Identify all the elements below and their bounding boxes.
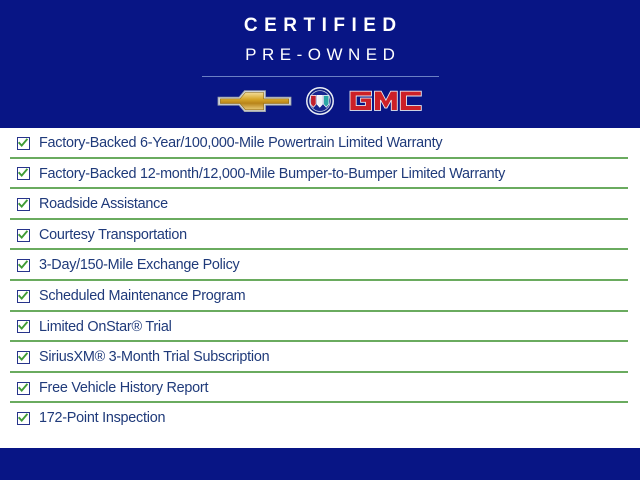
footer-bar xyxy=(0,448,640,480)
feature-row: 172-Point Inspection xyxy=(0,403,640,434)
feature-row: Courtesy Transportation xyxy=(0,220,640,251)
checkmark-icon xyxy=(17,229,30,242)
certified-pre-owned-panel: CERTIFIED PRE-OWNED xyxy=(0,0,640,480)
checkmark-icon xyxy=(17,167,30,180)
feature-row: Factory-Backed 6-Year/100,000-Mile Power… xyxy=(0,128,640,159)
feature-label: Courtesy Transportation xyxy=(39,228,187,242)
banner-subtitle: PRE-OWNED xyxy=(240,46,401,63)
feature-label: Factory-Backed 12-month/12,000-Mile Bump… xyxy=(39,167,505,181)
checkmark-icon xyxy=(17,351,30,364)
feature-label: Factory-Backed 6-Year/100,000-Mile Power… xyxy=(39,136,442,150)
feature-label: SiriusXM® 3-Month Trial Subscription xyxy=(39,350,269,364)
checkmark-icon xyxy=(17,290,30,303)
checkmark-icon xyxy=(17,137,30,150)
feature-label: 3-Day/150-Mile Exchange Policy xyxy=(39,258,239,272)
feature-row: 3-Day/150-Mile Exchange Policy xyxy=(0,250,640,281)
feature-label: Limited OnStar® Trial xyxy=(39,320,172,334)
feature-label: 172-Point Inspection xyxy=(39,411,165,425)
checkmark-icon xyxy=(17,198,30,211)
checkmark-icon xyxy=(17,320,30,333)
checkmark-icon xyxy=(17,412,30,425)
gmc-logo xyxy=(347,89,423,118)
feature-label: Roadside Assistance xyxy=(39,197,168,211)
chevrolet-logo xyxy=(217,88,293,119)
feature-row: Free Vehicle History Report xyxy=(0,373,640,404)
checkmark-icon xyxy=(17,382,30,395)
banner-divider-rule xyxy=(202,76,439,77)
buick-logo xyxy=(306,87,334,120)
banner: CERTIFIED PRE-OWNED xyxy=(0,0,640,128)
feature-row: Roadside Assistance xyxy=(0,189,640,220)
certified-feature-list: Factory-Backed 6-Year/100,000-Mile Power… xyxy=(0,128,640,448)
feature-row: SiriusXM® 3-Month Trial Subscription xyxy=(0,342,640,373)
feature-row: Scheduled Maintenance Program xyxy=(0,281,640,312)
checkmark-icon xyxy=(17,259,30,272)
brand-logo-row xyxy=(217,88,423,118)
feature-label: Scheduled Maintenance Program xyxy=(39,289,245,303)
feature-row: Limited OnStar® Trial xyxy=(0,312,640,343)
banner-title: CERTIFIED xyxy=(237,16,402,35)
feature-row: Factory-Backed 12-month/12,000-Mile Bump… xyxy=(0,159,640,190)
feature-label: Free Vehicle History Report xyxy=(39,381,208,395)
